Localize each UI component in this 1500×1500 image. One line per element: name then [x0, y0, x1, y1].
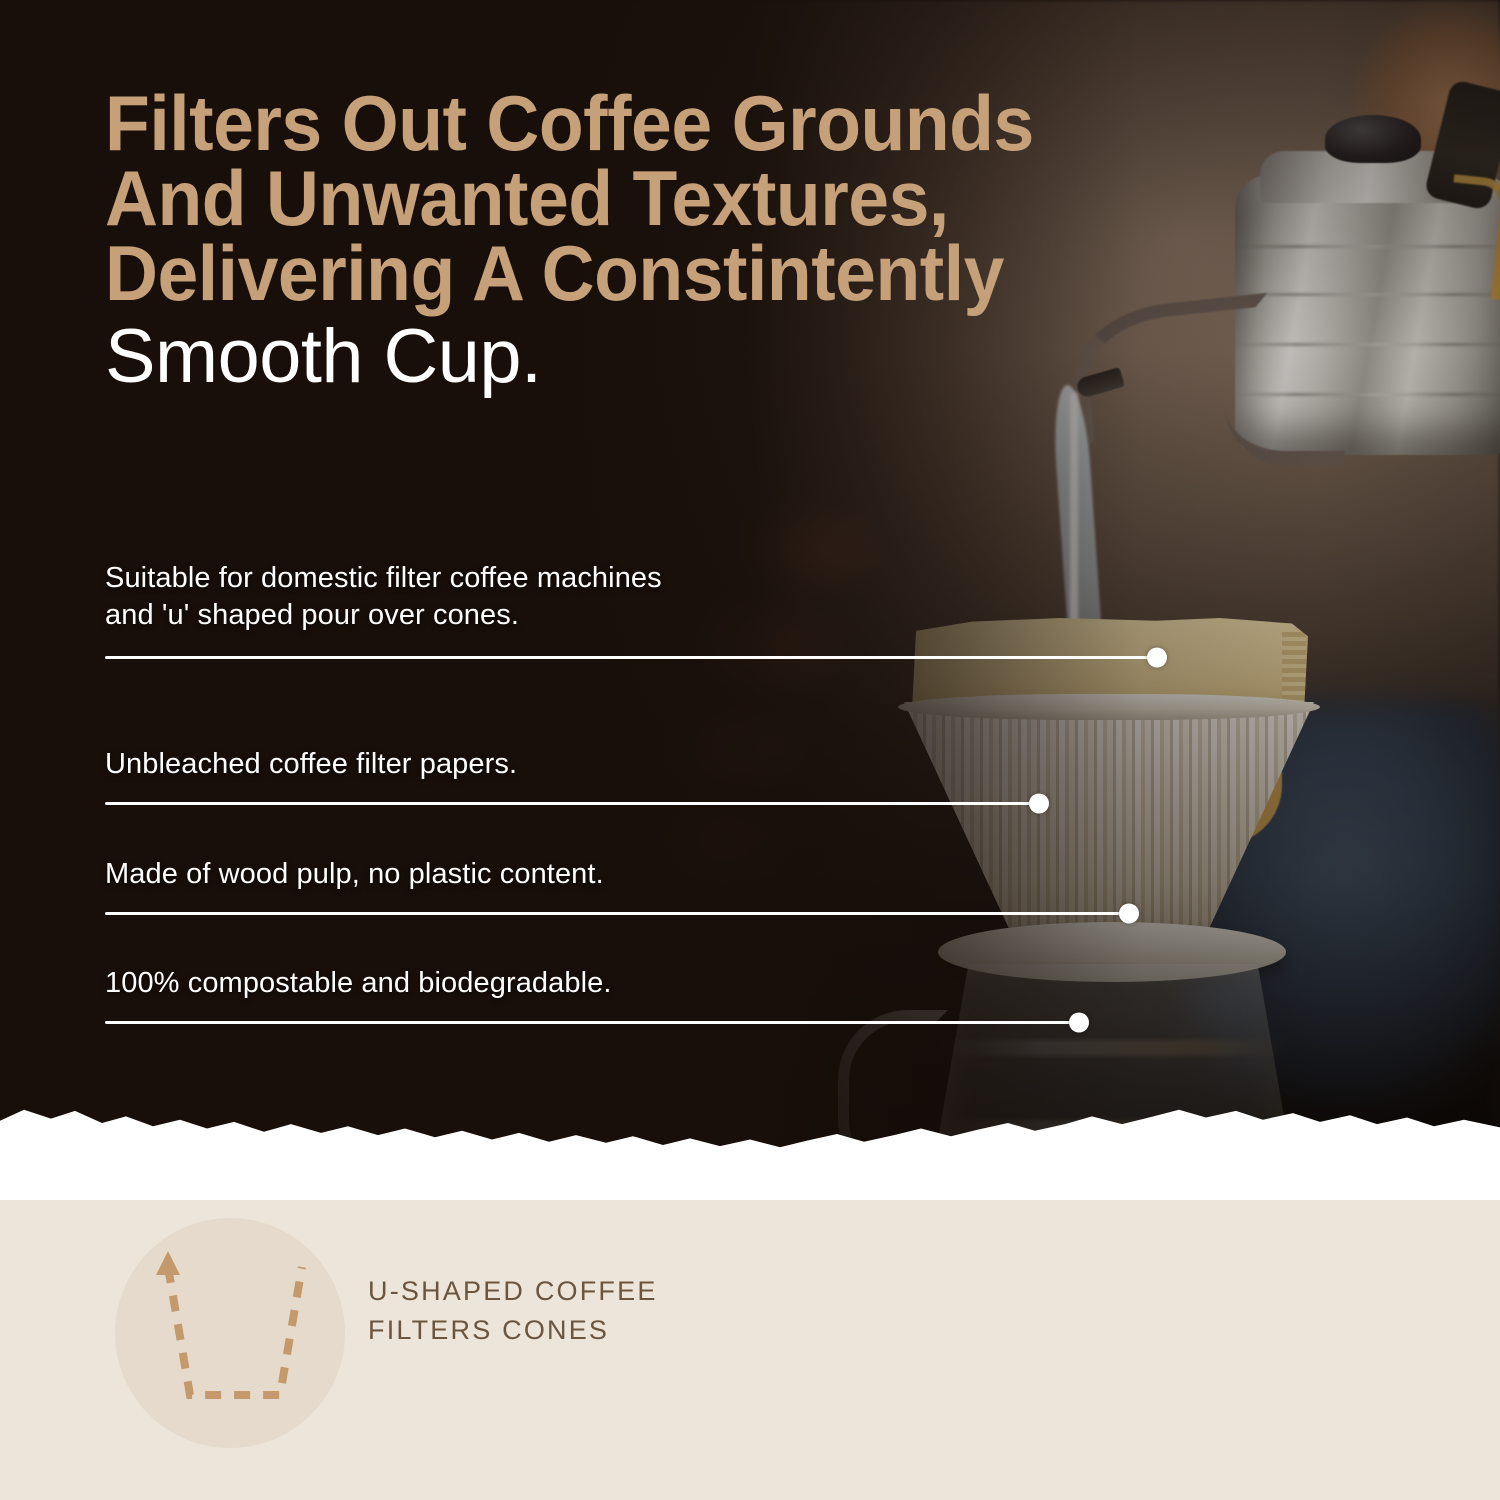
leader-dot-dripper-lower	[1119, 903, 1139, 923]
headline-tan-lines: Filters Out Coffee Grounds And Unwanted …	[105, 86, 1214, 311]
leader-line-4	[105, 1021, 1073, 1024]
leader-dot-dripper-upper	[1029, 794, 1049, 814]
feature-item-4: 100% compostable and biodegradable.	[105, 965, 1365, 1002]
badge-label: U-SHAPED COFFEE FILTERS CONES	[368, 1272, 788, 1350]
u-shaped-cone-dashed-icon	[150, 1245, 320, 1420]
feature-item-1: Suitable for domestic filter coffee mach…	[105, 560, 1365, 633]
feature-item-2: Unbleached coffee filter papers.	[105, 746, 1365, 783]
infographic-canvas: 20 Filters Out Coffee Grounds And Unwant…	[0, 0, 1500, 1500]
leader-dot-carafe	[1069, 1013, 1089, 1033]
feature-list: Suitable for domestic filter coffee mach…	[105, 560, 1365, 1002]
feature-text: Suitable for domestic filter coffee mach…	[105, 560, 1365, 633]
leader-dot-filter-paper	[1147, 648, 1167, 668]
feature-text: Unbleached coffee filter papers.	[105, 746, 1365, 783]
feature-text: 100% compostable and biodegradable.	[105, 965, 1365, 1002]
feature-text: Made of wood pulp, no plastic content.	[105, 856, 1365, 893]
leader-line-2	[105, 802, 1033, 805]
page-title: Filters Out Coffee Grounds And Unwanted …	[105, 86, 1214, 394]
leader-line-1	[105, 656, 1151, 659]
leader-line-3	[105, 912, 1123, 915]
feature-item-3: Made of wood pulp, no plastic content.	[105, 856, 1365, 893]
headline-white-line: Smooth Cup.	[105, 321, 1281, 394]
